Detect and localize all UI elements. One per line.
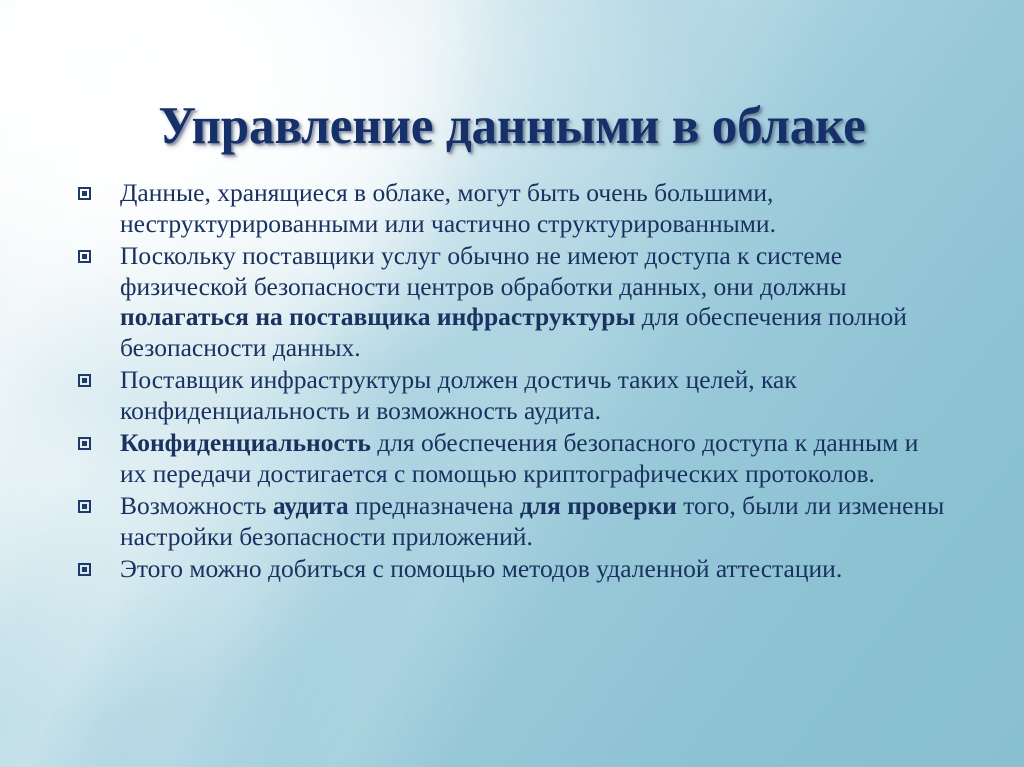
bullet-text: Данные, хранящиеся в облаке, могут быть … [120, 178, 776, 238]
bullet-item: Этого можно добиться с помощью методов у… [74, 554, 946, 585]
bullet-item: Конфиденциальность для обеспечения безоп… [74, 428, 946, 489]
bullet-text-run: Данные, хранящиеся в облаке, могут быть … [120, 178, 776, 238]
bullet-list: Данные, хранящиеся в облаке, могут быть … [74, 178, 946, 587]
bullet-text: Этого можно добиться с помощью методов у… [120, 554, 842, 583]
filled-square-outline-icon [78, 187, 91, 200]
bullet-item: Поставщик инфраструктуры должен достичь … [74, 365, 946, 426]
bullet-text-run: Поскольку поставщики услуг обычно не име… [120, 241, 846, 301]
bullet-text: Поскольку поставщики услуг обычно не име… [120, 241, 907, 362]
bullet-text-emphasis: аудита [273, 491, 349, 520]
filled-square-outline-icon [78, 437, 91, 450]
bullet-text-run: предназначена [349, 491, 520, 520]
slide-title: Управление данными в облаке [18, 98, 1006, 154]
bullet-item: Поскольку поставщики услуг обычно не име… [74, 241, 946, 363]
bullet-text-emphasis: полагаться на поставщика инфраструктуры [120, 302, 635, 331]
bullet-text: Возможность аудита предназначена для про… [120, 491, 944, 551]
bullet-item: Данные, хранящиеся в облаке, могут быть … [74, 178, 946, 239]
filled-square-outline-icon [78, 500, 91, 513]
bullet-text: Конфиденциальность для обеспечения безоп… [120, 428, 918, 488]
bullet-text-emphasis: для проверки [520, 491, 677, 520]
bullet-text-emphasis: Конфиденциальность [120, 428, 371, 457]
bullet-text: Поставщик инфраструктуры должен достичь … [120, 365, 797, 425]
filled-square-outline-icon [78, 563, 91, 576]
bullet-item: Возможность аудита предназначена для про… [74, 491, 946, 552]
bullet-text-run: Этого можно добиться с помощью методов у… [120, 554, 842, 583]
bullet-text-run: Поставщик инфраструктуры должен достичь … [120, 365, 797, 425]
bullet-text-run: Возможность [120, 491, 273, 520]
presentation-slide: Управление данными в облаке Данные, хран… [0, 0, 1024, 767]
filled-square-outline-icon [78, 250, 91, 263]
filled-square-outline-icon [78, 374, 91, 387]
